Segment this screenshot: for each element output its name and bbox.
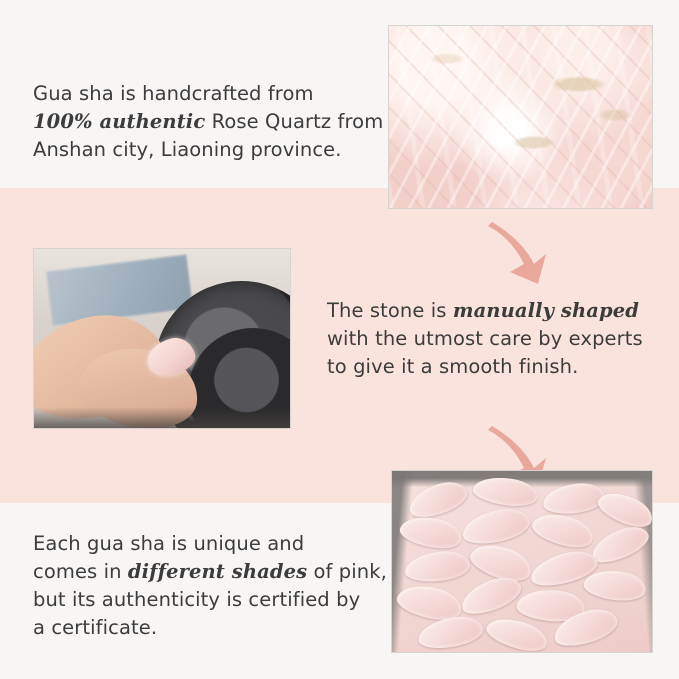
step-shades-line-3: but its authenticity is certified by <box>33 586 383 614</box>
rose-quartz-photo-content <box>389 26 652 208</box>
step-shaping-text: The stone is manually shaped with the ut… <box>327 297 657 381</box>
step-shades-line-2: comes in different shades of pink, <box>33 558 383 586</box>
stones-photo-content <box>392 471 652 652</box>
step-shades-text: Each gua sha is unique and comes in diff… <box>33 530 383 642</box>
step-origin-emphasis: 100% authentic <box>33 110 205 133</box>
step-origin-line-1: Gua sha is handcrafted from <box>33 80 383 108</box>
rose-quartz-macro-photo <box>388 25 653 209</box>
step-shades-emphasis: different shades <box>128 560 307 583</box>
workshop-bench-shadow <box>34 407 290 428</box>
quartz-golden-inclusions <box>389 26 652 208</box>
step-shaping-line-1: The stone is manually shaped <box>327 297 657 325</box>
gua-sha-stones-tray-photo <box>391 470 653 653</box>
step-shades-line-4: a certificate. <box>33 614 383 642</box>
step-shades-line-1: Each gua sha is unique and <box>33 530 383 558</box>
arrow-down-left-icon <box>482 218 556 288</box>
step-shaping-emphasis: manually shaped <box>453 299 639 322</box>
arrow-quartz-to-shaping <box>482 218 556 288</box>
hands-shaping-stone-photo <box>33 248 291 429</box>
step-origin-line-2: 100% authentic Rose Quartz from <box>33 108 383 136</box>
step-shaping-line-3: to give it a smooth finish. <box>327 353 657 381</box>
step-shaping-line-2: with the utmost care by experts <box>327 325 657 353</box>
step-origin-line-3: Anshan city, Liaoning province. <box>33 136 383 164</box>
step-origin-text: Gua sha is handcrafted from 100% authent… <box>33 80 383 164</box>
infographic-canvas: Gua sha is handcrafted from 100% authent… <box>0 0 679 679</box>
shaping-photo-content <box>34 249 290 428</box>
